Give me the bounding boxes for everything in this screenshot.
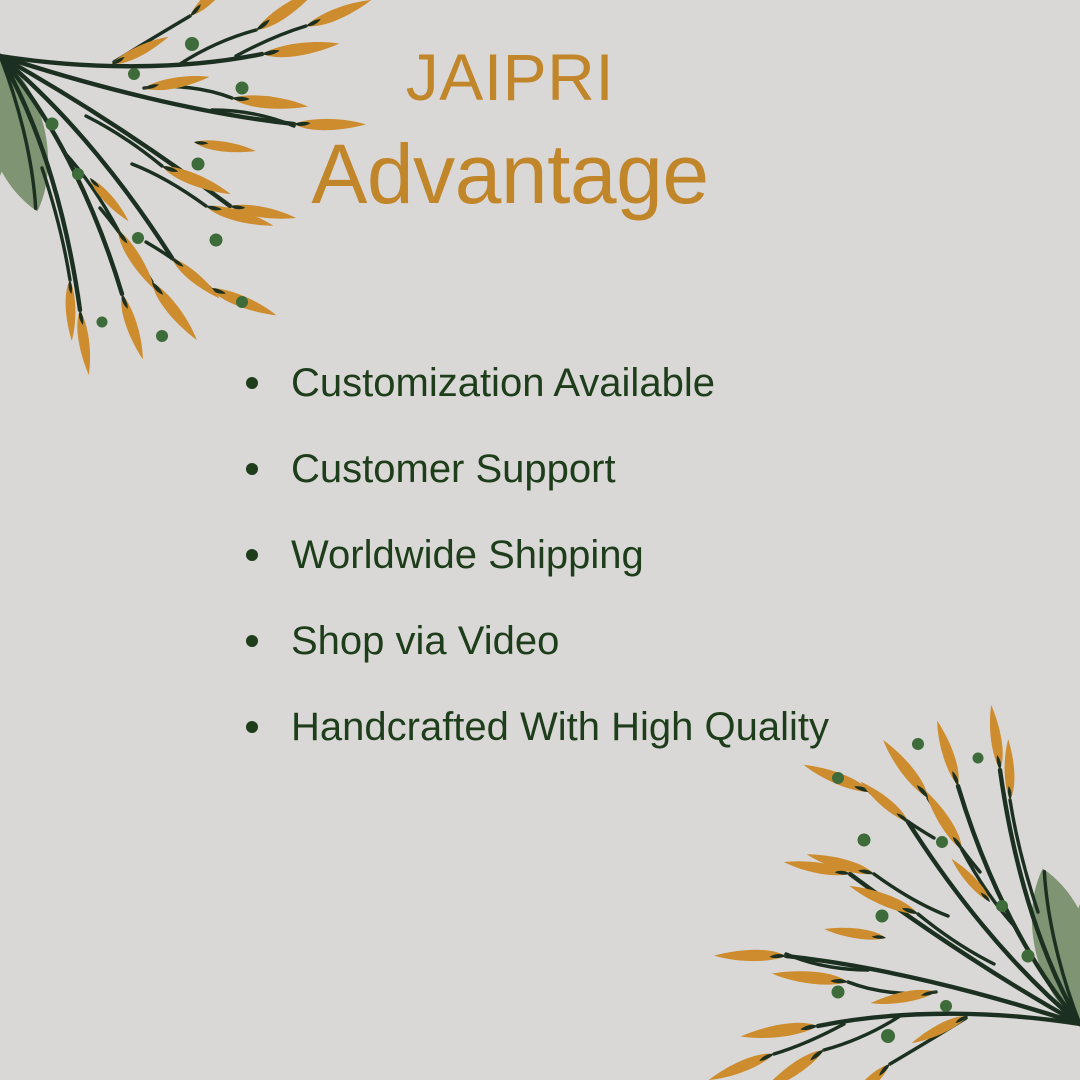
branchlet-group (42, 16, 306, 288)
branchlet-group (774, 792, 1038, 1064)
bullet-icon (246, 635, 258, 647)
bullet-icon (246, 377, 258, 389)
list-item: Worldwide Shipping (246, 512, 1046, 598)
poster-canvas: JAIPRI Advantage Customization Available… (0, 0, 1080, 1080)
list-item-label: Customization Available (291, 361, 715, 406)
title-subline: Advantage (300, 132, 720, 216)
stem-group (786, 770, 1080, 1026)
page-title: JAIPRI Advantage (300, 44, 720, 216)
bullet-icon (246, 549, 258, 561)
list-item-label: Shop via Video (291, 619, 559, 664)
list-item-label: Handcrafted With High Quality (291, 705, 829, 750)
list-item: Customer Support (246, 426, 1046, 512)
list-item: Shop via Video (246, 598, 1046, 684)
leaf-cluster (0, 0, 52, 232)
list-item-label: Customer Support (291, 447, 616, 492)
dot-group (46, 37, 249, 342)
stem-group (0, 54, 294, 310)
list-item: Handcrafted With High Quality (246, 684, 1046, 770)
bullet-icon (246, 463, 258, 475)
list-item-label: Worldwide Shipping (291, 533, 644, 578)
dot-group (832, 738, 1035, 1043)
list-item: Customization Available (246, 340, 1046, 426)
brand-name: JAIPRI (300, 44, 720, 110)
leaf-cluster (1028, 848, 1080, 1080)
advantage-list: Customization Available Customer Support… (246, 340, 1046, 770)
bullet-icon (246, 721, 258, 733)
